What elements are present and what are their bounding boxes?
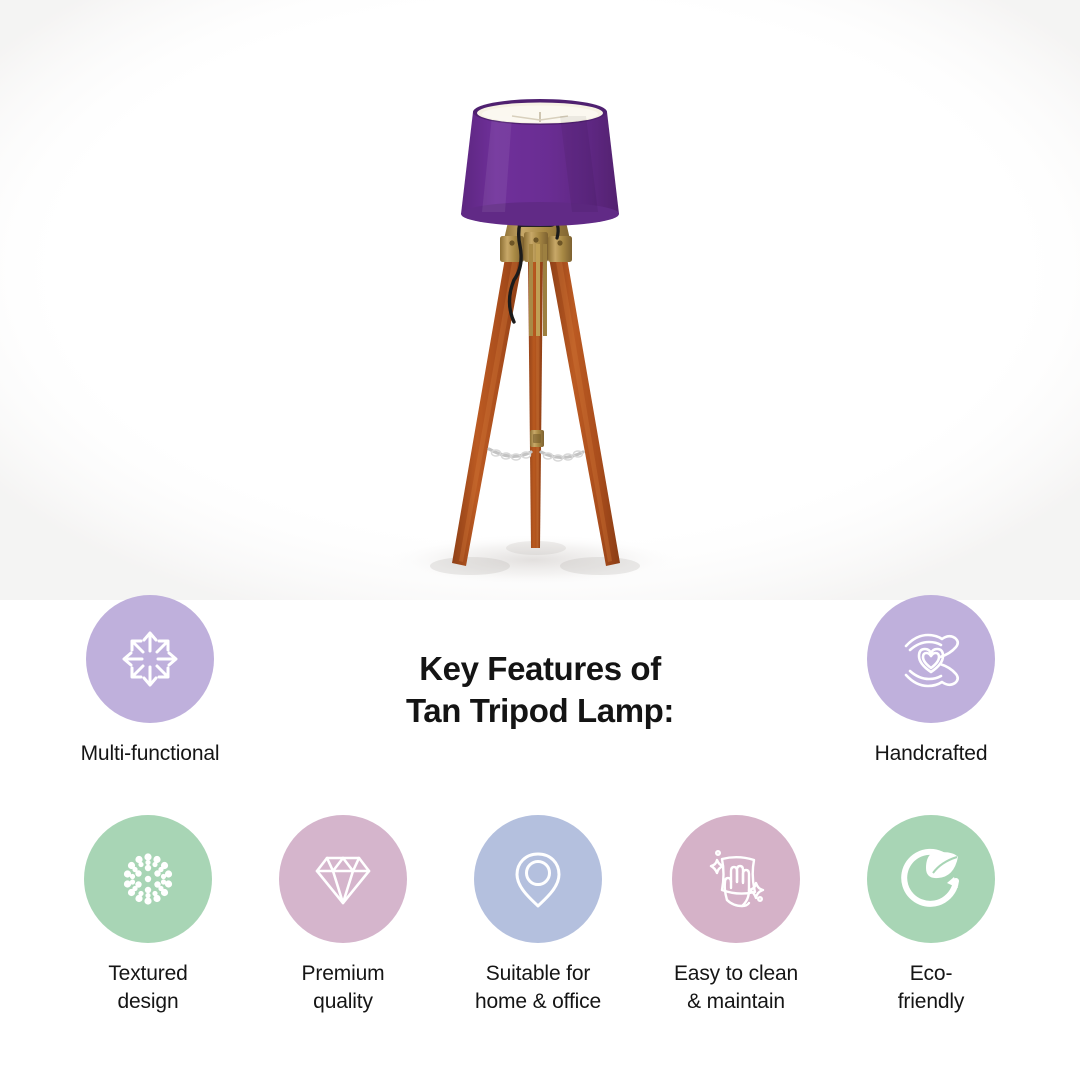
feature-label-line-1: Textured bbox=[108, 962, 187, 985]
feature-suitable-home-office: Suitable for home & office bbox=[450, 815, 626, 1016]
recycle-leaf-icon bbox=[888, 836, 974, 922]
feature-label-line-2: quality bbox=[255, 988, 431, 1016]
dot-texture-icon bbox=[106, 837, 190, 921]
feature-label-line-2: friendly bbox=[843, 988, 1019, 1016]
feature-label-line-1: Handcrafted bbox=[875, 742, 988, 765]
feature-label-line-1: Suitable for bbox=[486, 962, 590, 985]
feature-badge-circle bbox=[279, 815, 407, 943]
feature-badge-circle bbox=[672, 815, 800, 943]
hands-heart-icon bbox=[892, 620, 970, 698]
page-title-line-2: Tan Tripod Lamp: bbox=[290, 690, 790, 732]
feature-label: Textured design bbox=[60, 960, 236, 1016]
feature-label: Handcrafted bbox=[843, 740, 1019, 768]
feature-handcrafted: Handcrafted bbox=[843, 595, 1019, 768]
expand-arrows-icon bbox=[112, 621, 188, 697]
feature-textured-design: Textured design bbox=[60, 815, 236, 1016]
location-pin-icon bbox=[496, 837, 580, 921]
feature-badge-circle bbox=[84, 815, 212, 943]
page-title: Key Features of Tan Tripod Lamp: bbox=[290, 648, 790, 732]
feature-premium-quality: Premium quality bbox=[255, 815, 431, 1016]
feature-badge-circle bbox=[474, 815, 602, 943]
infographic-page: Key Features of Tan Tripod Lamp: bbox=[0, 0, 1080, 1080]
feature-eco-friendly: Eco- friendly bbox=[843, 815, 1019, 1016]
diamond-icon bbox=[301, 837, 385, 921]
feature-label-line-2: home & office bbox=[450, 988, 626, 1016]
feature-label: Suitable for home & office bbox=[450, 960, 626, 1016]
feature-label: Premium quality bbox=[255, 960, 431, 1016]
feature-label-line-1: Multi-functional bbox=[81, 742, 220, 765]
feature-label-line-2: & maintain bbox=[648, 988, 824, 1016]
feature-label: Eco- friendly bbox=[843, 960, 1019, 1016]
feature-label-line-1: Premium bbox=[302, 962, 385, 985]
feature-label-line-1: Easy to clean bbox=[674, 962, 798, 985]
feature-label-line-2: design bbox=[60, 988, 236, 1016]
feature-badge-circle bbox=[867, 815, 995, 943]
feature-label: Multi-functional bbox=[62, 740, 238, 768]
feature-badge-circle bbox=[86, 595, 214, 723]
product-image-tripod-lamp bbox=[0, 0, 1080, 600]
feature-label-line-1: Eco- bbox=[910, 962, 953, 985]
feature-easy-to-clean: Easy to clean & maintain bbox=[648, 815, 824, 1016]
feature-badge-circle bbox=[867, 595, 995, 723]
page-title-line-1: Key Features of bbox=[290, 648, 790, 690]
feature-label: Easy to clean & maintain bbox=[648, 960, 824, 1016]
feature-multi-functional: Multi-functional bbox=[62, 595, 238, 768]
hand-wipe-sparkle-icon bbox=[694, 837, 778, 921]
